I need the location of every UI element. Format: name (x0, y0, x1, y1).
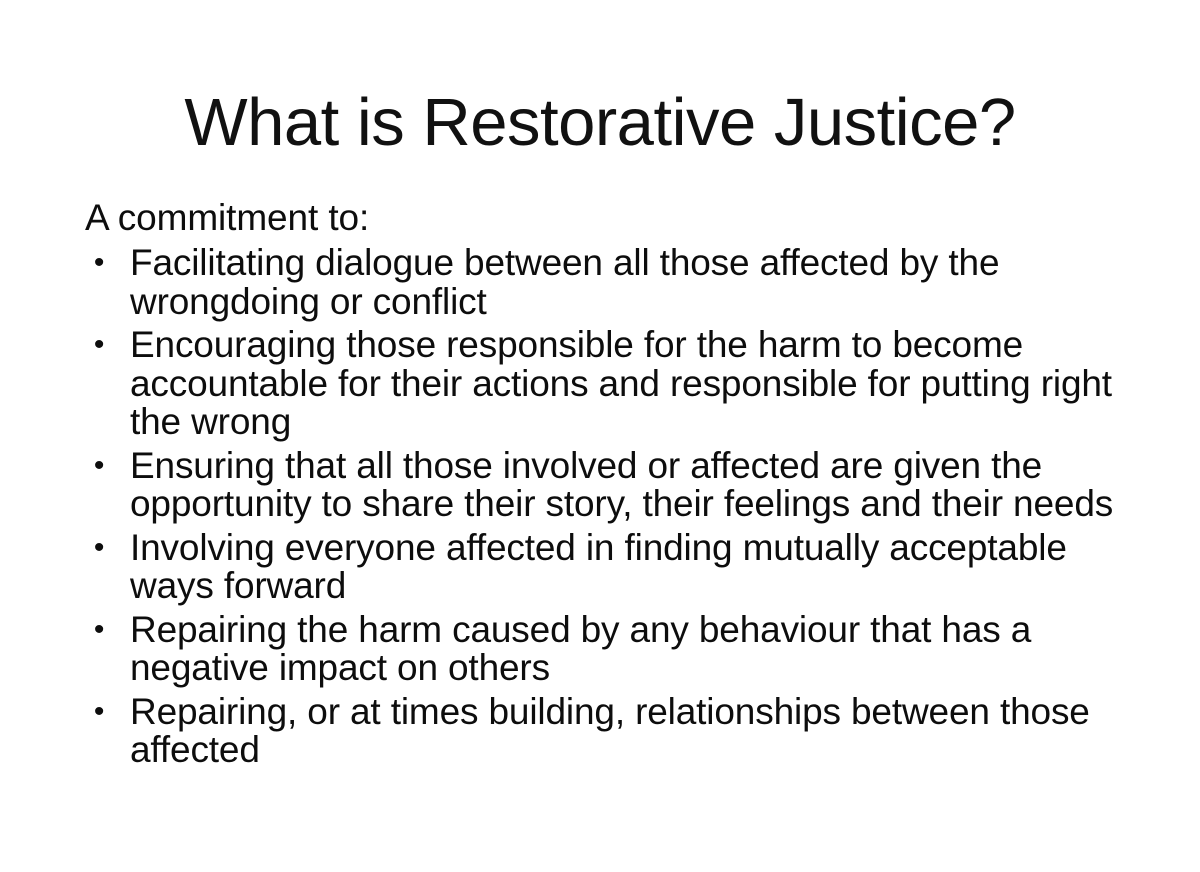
list-item-text: Repairing, or at times building, relatio… (130, 693, 1140, 770)
slide: What is Restorative Justice? A commitmen… (0, 0, 1200, 872)
bullet-list: • Facilitating dialogue between all thos… (80, 244, 1140, 770)
list-item: • Ensuring that all those involved or af… (80, 447, 1140, 524)
list-item-text: Ensuring that all those involved or affe… (130, 447, 1140, 524)
list-item: • Involving everyone affected in finding… (80, 529, 1140, 606)
list-item-text: Facilitating dialogue between all those … (130, 244, 1140, 321)
bullet-point-icon: • (89, 326, 109, 365)
bullet-point-icon: • (89, 447, 109, 486)
list-item: • Repairing the harm caused by any behav… (80, 611, 1140, 688)
page-title: What is Restorative Justice? (0, 85, 1200, 160)
bullet-point-icon: • (89, 693, 109, 732)
list-item: • Repairing, or at times building, relat… (80, 693, 1140, 770)
slide-body: A commitment to: • Facilitating dialogue… (80, 196, 1140, 775)
list-item-text: Encouraging those responsible for the ha… (130, 326, 1140, 442)
list-item-text: Repairing the harm caused by any behavio… (130, 611, 1140, 688)
list-item-text: Involving everyone affected in finding m… (130, 529, 1140, 606)
bullet-point-icon: • (89, 529, 109, 568)
bullet-point-icon: • (89, 244, 109, 283)
intro-line: A commitment to: (85, 196, 1140, 240)
list-item: • Facilitating dialogue between all thos… (80, 244, 1140, 321)
bullet-point-icon: • (89, 611, 109, 650)
list-item: • Encouraging those responsible for the … (80, 326, 1140, 442)
